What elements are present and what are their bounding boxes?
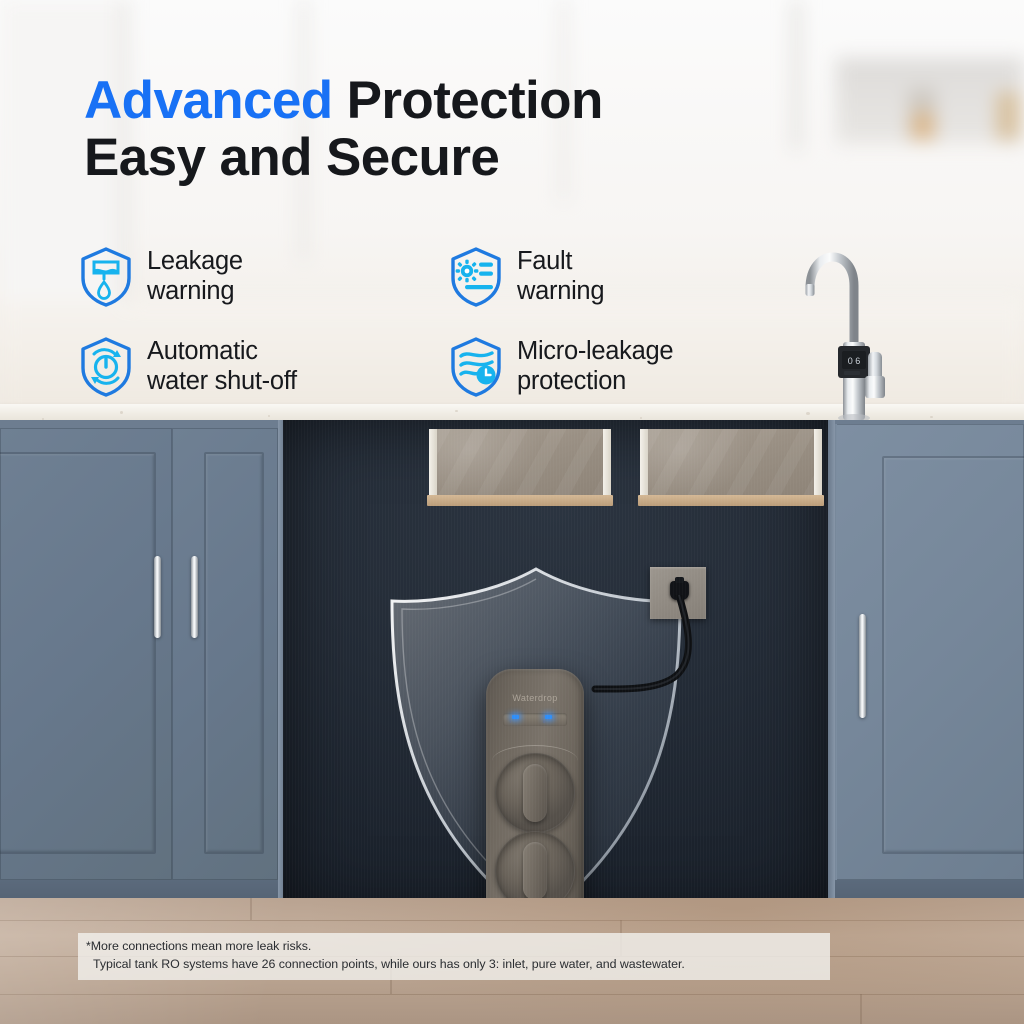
page-headline: Advanced Protection Easy and Secure	[84, 72, 844, 186]
device-led-panel: Ⅰ Ⅱ	[503, 713, 567, 726]
bin-base-left	[427, 495, 613, 506]
led-label-2: Ⅱ	[543, 720, 545, 724]
shield-waves-clock-icon	[448, 336, 504, 398]
led-indicator-2	[545, 715, 552, 719]
storage-bin-left[interactable]	[435, 429, 605, 497]
feature-fault-warning: Faultwarning	[448, 246, 818, 308]
feature-row-2: Automaticwater shut-off Micro-le	[78, 336, 818, 398]
bin-rail-left-outer	[429, 429, 437, 497]
storage-bin-right[interactable]	[646, 429, 816, 497]
led-indicator-1	[512, 715, 519, 719]
feature-label-micro-leakage: Micro-leakageprotection	[517, 337, 673, 397]
footnote-line-1: *More connections mean more leak risks.	[86, 938, 822, 956]
filter-grip-bottom[interactable]	[523, 842, 547, 900]
bin-rail-right-outer	[640, 429, 648, 497]
cabinet-door-left-1[interactable]	[0, 428, 172, 880]
shield-gear-list-icon	[448, 246, 504, 308]
bin-rail-left-inner	[603, 429, 611, 497]
power-plug	[670, 581, 689, 600]
feature-label-fault-warning: Faultwarning	[517, 247, 604, 307]
shield-water-drop-icon	[78, 246, 134, 308]
footnote-line-2: Typical tank RO systems have 26 connecti…	[86, 956, 822, 974]
cabinet-interior: Waterdrop Ⅰ Ⅱ	[283, 420, 828, 920]
bin-rail-right-inner	[814, 429, 822, 497]
cabinet-door-left-2[interactable]	[172, 428, 278, 880]
feature-auto-shutoff: Automaticwater shut-off	[78, 336, 448, 398]
cabinet-handle-right[interactable]	[859, 614, 866, 718]
cabinet-handle-left-2[interactable]	[191, 556, 198, 638]
filter-cartridge-top[interactable]	[495, 753, 575, 833]
headline-rest: Protection	[333, 71, 603, 130]
feature-leakage-warning: Leakagewarning	[78, 246, 448, 308]
shield-power-cycle-icon	[78, 336, 134, 398]
feature-label-auto-shutoff: Automaticwater shut-off	[147, 337, 297, 397]
product-marketing-image: 0 6	[0, 0, 1024, 1024]
svg-text:0 6: 0 6	[848, 356, 861, 366]
headline-line-1: Advanced Protection	[84, 72, 844, 129]
bin-fabric-right	[646, 429, 816, 497]
cabinet-handle-left-1[interactable]	[154, 556, 161, 638]
waterdrop-ro-device[interactable]: Waterdrop Ⅰ Ⅱ	[486, 669, 584, 920]
device-brand-label: Waterdrop	[486, 693, 584, 703]
feature-row-1: Leakagewarning	[78, 246, 818, 308]
filter-grip-top[interactable]	[523, 764, 547, 822]
power-cable	[573, 595, 703, 710]
feature-list: Leakagewarning	[78, 246, 818, 398]
led-label-1: Ⅰ	[510, 720, 511, 724]
feature-micro-leakage: Micro-leakageprotection	[448, 336, 818, 398]
protection-shield-graphic	[386, 565, 686, 920]
device-seam-arc	[492, 745, 578, 761]
power-outlet[interactable]	[650, 567, 706, 619]
bin-base-right	[638, 495, 824, 506]
headline-highlight: Advanced	[84, 71, 333, 130]
footnote-disclaimer: *More connections mean more leak risks. …	[78, 933, 830, 980]
bin-fabric-left	[435, 429, 605, 497]
feature-label-leakage-warning: Leakagewarning	[147, 247, 243, 307]
headline-line-2: Easy and Secure	[84, 129, 844, 186]
